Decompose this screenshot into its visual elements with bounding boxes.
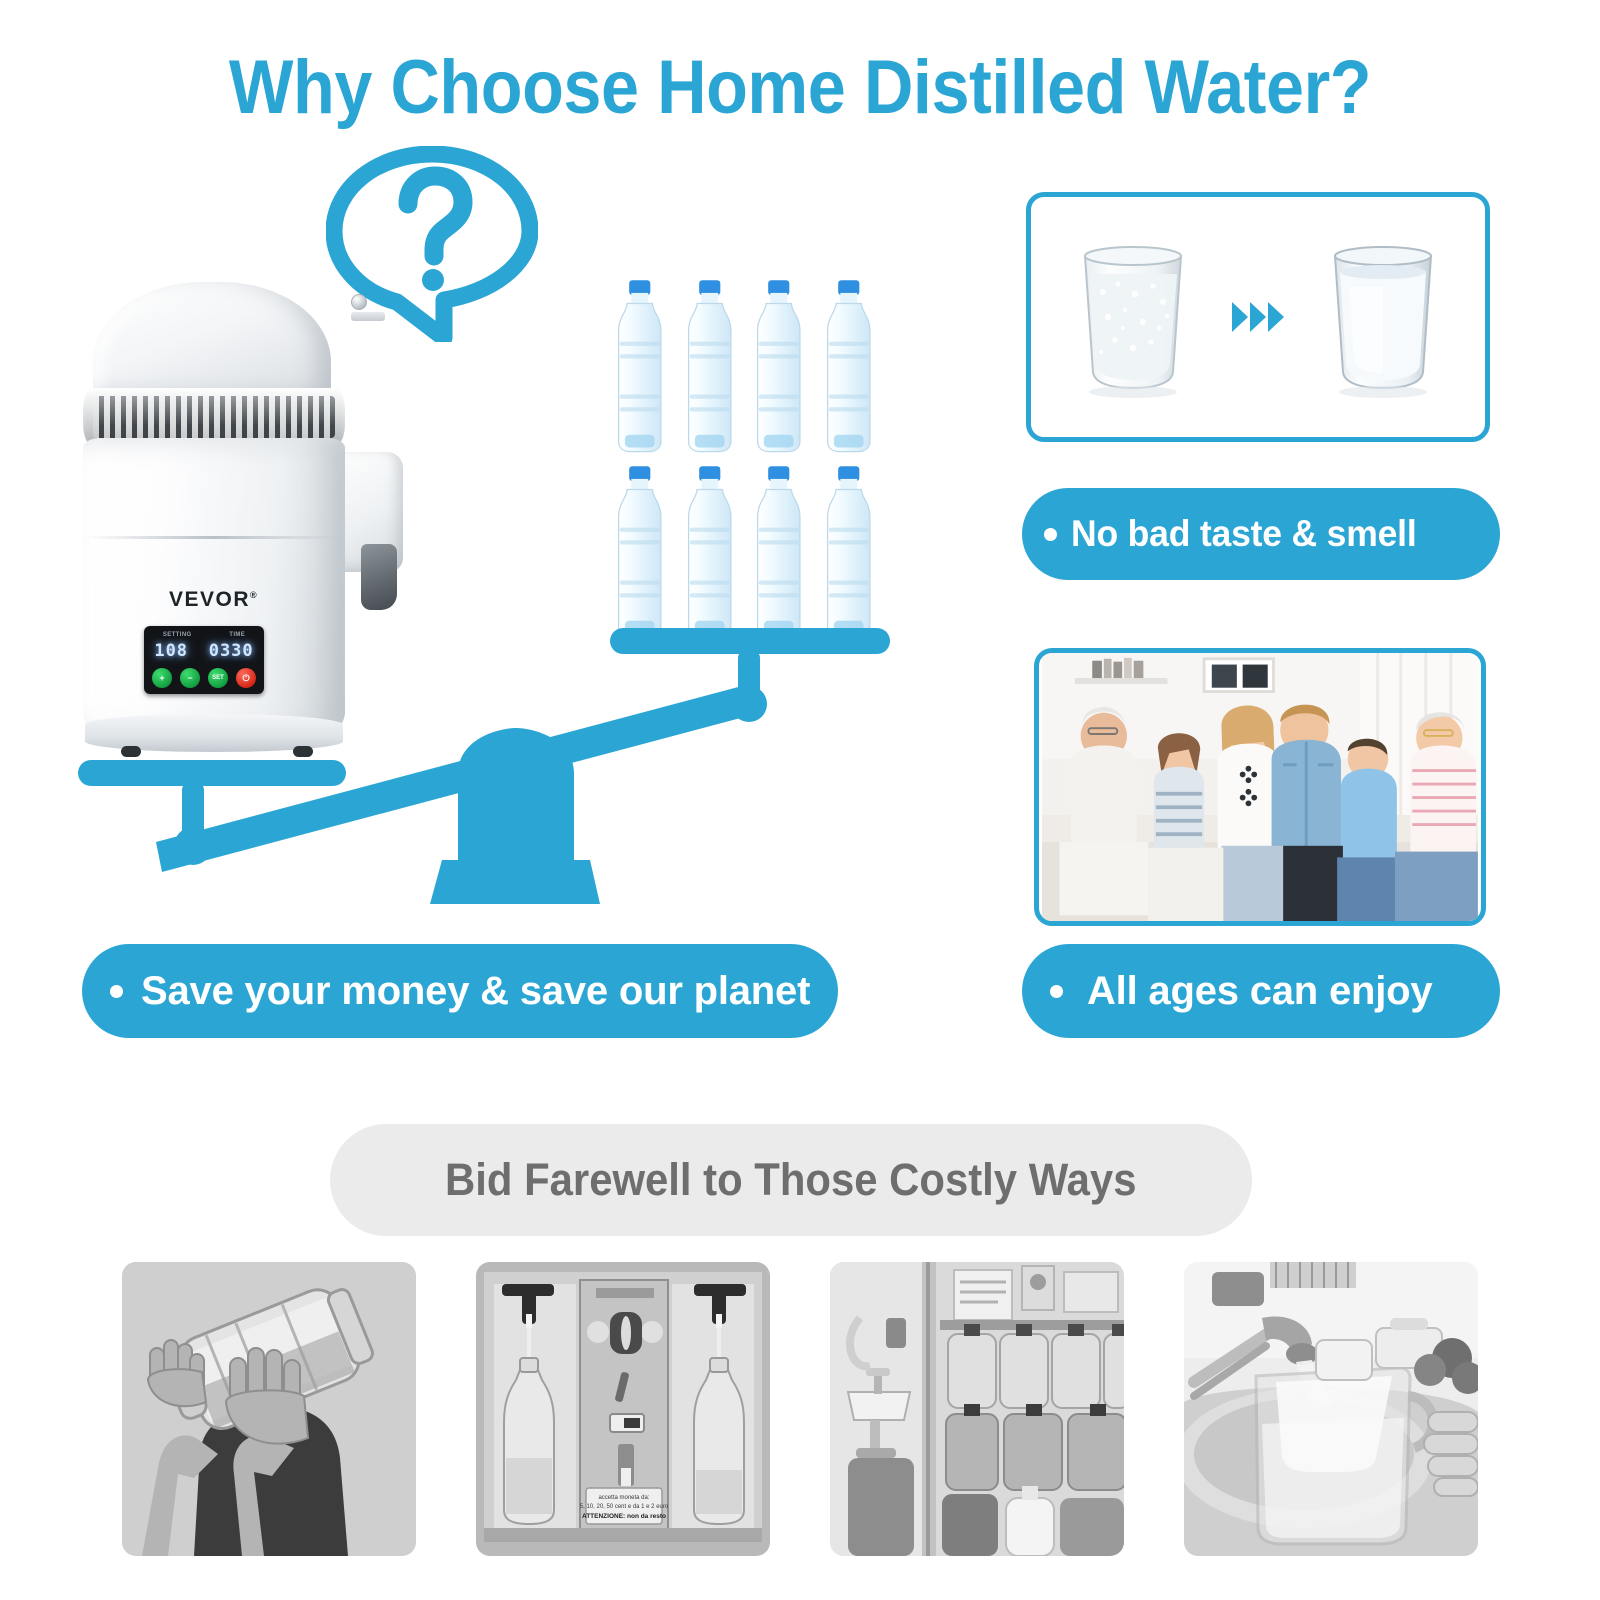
thumbnail-filter-pitcher <box>1184 1262 1478 1556</box>
water-bottle <box>678 462 742 642</box>
water-bottle <box>817 276 881 456</box>
disposable-water-bottles-group <box>608 276 880 628</box>
benefit-text: Save your money & save our planet <box>141 969 810 1014</box>
bullet-dot-icon <box>1050 985 1063 998</box>
brand-logo: VEVOR® <box>169 588 258 612</box>
benefit-pill-save-money: Save your money & save our planet <box>82 944 838 1038</box>
vending-sign-line3: ATTENZIONE: non da resto <box>582 1513 666 1520</box>
water-bottle <box>747 462 811 642</box>
distiller-seam <box>85 536 343 539</box>
benefit-text: No bad taste & smell <box>1071 513 1417 555</box>
section-banner: Bid Farewell to Those Costly Ways <box>330 1124 1252 1236</box>
distiller-lid <box>93 282 331 402</box>
vending-sign-line2: 5, 10, 20, 50 cent e da 1 e 2 euro <box>580 1504 669 1510</box>
thumbnail-water-vending-machine: accetta moneta da: 5, 10, 20, 50 cent e … <box>476 1262 770 1556</box>
infographic-page: Why Choose Home Distilled Water? VEVOR® <box>0 0 1600 1600</box>
family-photo-image <box>1039 653 1481 921</box>
page-title: Why Choose Home Distilled Water? <box>80 44 1520 131</box>
water-bottle <box>817 462 881 642</box>
left-platform <box>78 760 346 786</box>
cloudy-water-glass-image <box>1063 232 1203 402</box>
bullet-dot-icon <box>1044 528 1057 541</box>
triple-chevron-right-icon <box>1232 302 1284 332</box>
thumbnail-jug-lifting <box>122 1262 416 1556</box>
brand-registered-mark: ® <box>250 590 258 600</box>
water-bottle <box>608 462 672 642</box>
benefit-pill-no-bad-taste: No bad taste & smell <box>1022 488 1500 580</box>
vending-sign-line1: accetta moneta da: <box>598 1495 649 1501</box>
water-bottle <box>608 276 672 456</box>
balance-seesaw-graphic <box>70 620 930 920</box>
distiller-lid-knob <box>351 294 367 310</box>
water-comparison-frame <box>1026 192 1490 442</box>
bullet-dot-icon <box>110 985 123 998</box>
benefit-pill-all-ages: All ages can enjoy <box>1022 944 1500 1038</box>
distiller-spout-nozzle <box>361 544 397 610</box>
distiller-lid-tab <box>351 312 385 321</box>
family-photo-frame <box>1034 648 1486 926</box>
thumbnail-stacked-jugs <box>830 1262 1124 1556</box>
brand-name: VEVOR <box>169 588 250 611</box>
benefit-text: All ages can enjoy <box>1087 969 1432 1014</box>
costly-ways-photo-strip: accetta moneta da: 5, 10, 20, 50 cent e … <box>0 1262 1600 1582</box>
water-bottle <box>678 276 742 456</box>
clear-water-glass-image <box>1313 232 1453 402</box>
water-bottle <box>747 276 811 456</box>
banner-text: Bid Farewell to Those Costly Ways <box>445 1154 1136 1206</box>
